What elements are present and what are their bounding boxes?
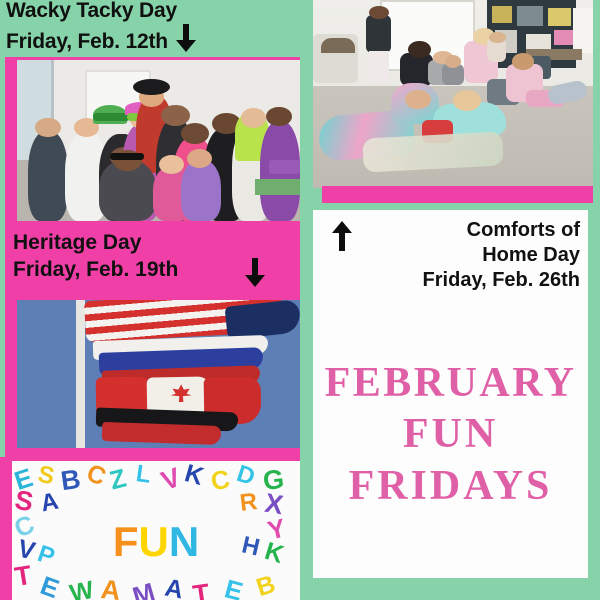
- photo-sunglasses: [110, 153, 144, 159]
- photo-person-head: [408, 41, 430, 58]
- photo-easel: [573, 8, 593, 53]
- event-name-line-2-comforts-of-home-day: Home Day: [313, 243, 580, 268]
- photo-board-note: [517, 6, 542, 27]
- photo-person-head: [445, 55, 462, 68]
- event-heading-comforts-of-home-day: Comforts of Home Day Friday, Feb. 26th: [313, 218, 588, 293]
- poster-title: FEBRUARY FUN FRIDAYS: [313, 358, 588, 512]
- poster-canvas: Wacky Tacky Day Friday, Feb. 12th: [0, 0, 600, 600]
- photo-person-head: [369, 6, 389, 19]
- photo-person-head: [453, 90, 481, 111]
- photo-person-head: [161, 105, 189, 126]
- photo-fun-letter-f: F: [113, 518, 139, 565]
- photo-person-head: [241, 108, 266, 127]
- photo-person: [366, 15, 391, 53]
- poster-title-line-2: FUN: [313, 408, 588, 460]
- event-heading-wacky-tacky-day: Wacky Tacky Day Friday, Feb. 12th: [0, 0, 300, 57]
- photo-foam-letter: W: [67, 576, 96, 600]
- photo-table: [255, 179, 300, 195]
- event-name-wacky-tacky-day: Wacky Tacky Day: [0, 0, 300, 24]
- photo-fun-letter-n: N: [169, 518, 199, 565]
- down-arrow-icon: [174, 24, 198, 60]
- info-card: Comforts of Home Day Friday, Feb. 26th F…: [313, 210, 588, 578]
- photo-board-note: [492, 6, 512, 23]
- photo-person-head: [266, 107, 291, 126]
- photo-pajama-pants: [369, 51, 389, 83]
- photo-heritage-day: [17, 300, 300, 448]
- photo-foam-letter: B: [59, 464, 83, 497]
- event-date-wacky-tacky-day: Friday, Feb. 12th: [6, 29, 168, 55]
- photo-person: [181, 160, 221, 221]
- event-name-heritage-day: Heritage Day: [9, 229, 141, 256]
- photo-fun-letter-u: U: [138, 518, 168, 565]
- poster-title-line-1: FEBRUARY: [313, 358, 588, 408]
- photo-person-head: [187, 149, 212, 168]
- photo-wacky-tacky-day: [17, 60, 300, 221]
- photo-board-note: [548, 8, 570, 27]
- event-date-heritage-day: Friday, Feb. 19th: [9, 256, 178, 283]
- photo-person: [28, 131, 68, 221]
- photo-foam-letter: R: [238, 488, 259, 518]
- photo-comforts-of-home-day: [313, 0, 593, 188]
- photo-person-head: [405, 90, 430, 109]
- photo-person-head: [512, 53, 534, 70]
- photo-board-note: [554, 30, 574, 45]
- poster-title-line-3: FRIDAYS: [313, 460, 588, 512]
- accent-band-right: [322, 186, 593, 203]
- event-name-line-1-comforts-of-home-day: Comforts of: [313, 218, 580, 243]
- photo-person-head: [181, 123, 209, 144]
- photo-fun-word: FUN: [12, 518, 300, 566]
- photo-backpack: [269, 160, 300, 174]
- event-date-row-wacky-tacky-day: Friday, Feb. 12th: [0, 24, 300, 60]
- photo-flagpole: [76, 300, 84, 448]
- down-arrow-icon: [243, 258, 267, 293]
- photo-chair-back: [321, 38, 355, 53]
- event-heading-heritage-day: Heritage Day Friday, Feb. 19th: [5, 222, 300, 297]
- photo-foam-letter: A: [99, 574, 122, 600]
- photo-fun-letters: E S B C Z L V K C D G S C V T E W A M A …: [12, 461, 300, 600]
- event-date-comforts-of-home-day: Friday, Feb. 26th: [313, 268, 580, 293]
- photo-person-head: [35, 118, 60, 137]
